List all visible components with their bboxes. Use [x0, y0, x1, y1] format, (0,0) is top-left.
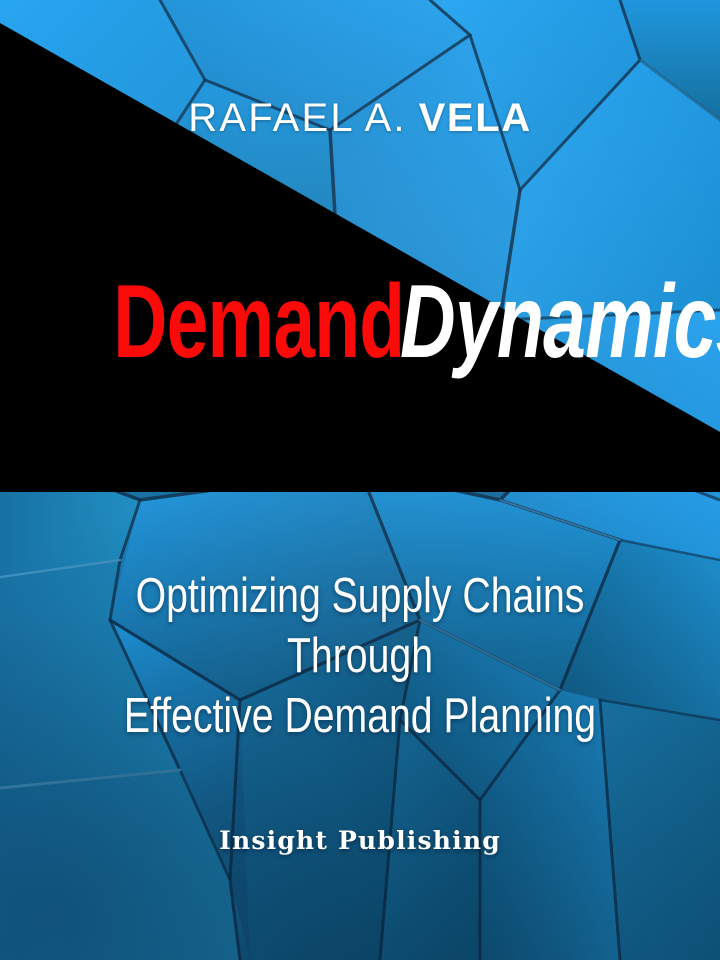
book-title: DemandDynamics: [0, 270, 720, 374]
title-word-demand: Demand: [113, 270, 404, 374]
subtitle-line-2: Effective Demand Planning: [72, 686, 648, 746]
subtitle-line-1: Optimizing Supply Chains Through: [72, 566, 648, 686]
title-word-dynamics: Dynamics: [400, 270, 720, 374]
publisher-name: Insight Publishing: [0, 826, 720, 855]
author-name-regular: RAFAEL A.: [188, 96, 406, 140]
book-subtitle: Optimizing Supply Chains Through Effecti…: [0, 566, 720, 746]
author-name: RAFAEL A.VELA: [0, 98, 720, 138]
author-surname: VELA: [419, 96, 532, 140]
book-cover: RAFAEL A.VELA DemandDynamics Optimizing …: [0, 0, 720, 960]
